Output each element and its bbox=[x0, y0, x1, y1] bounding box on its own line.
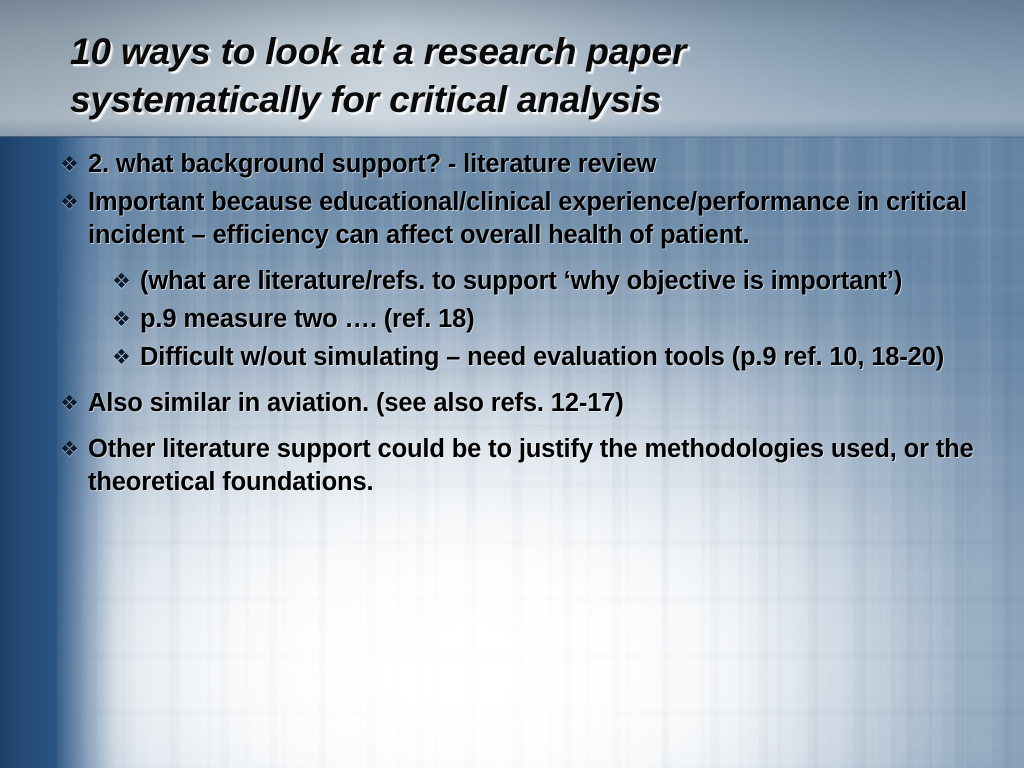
bullet-text: Important because educational/clinical e… bbox=[88, 186, 1010, 252]
slide-title: 10 ways to look at a research paper syst… bbox=[70, 28, 970, 124]
sub-bullet-item: ❖ Difficult w/out simulating – need eval… bbox=[60, 341, 1010, 374]
body-spacer bbox=[60, 257, 1010, 265]
bullet-item: ❖ 2. what background support? - literatu… bbox=[60, 148, 1010, 181]
sub-bullet-item: ❖ (what are literature/refs. to support … bbox=[60, 265, 1010, 298]
bullet-diamond-icon: ❖ bbox=[112, 303, 140, 336]
slide-title-line-2: systematically for critical analysis bbox=[70, 76, 970, 124]
bullet-diamond-icon: ❖ bbox=[60, 148, 88, 181]
bullet-text: Other literature support could be to jus… bbox=[88, 433, 1010, 499]
left-accent-band bbox=[0, 137, 57, 768]
sub-bullet-text: (what are literature/refs. to support ‘w… bbox=[140, 265, 1010, 298]
bullet-diamond-icon: ❖ bbox=[60, 433, 88, 466]
bullet-item: ❖ Important because educational/clinical… bbox=[60, 186, 1010, 252]
bullet-diamond-icon: ❖ bbox=[60, 387, 88, 420]
slide-title-line-1: 10 ways to look at a research paper bbox=[70, 28, 970, 76]
sub-bullet-item: ❖ p.9 measure two …. (ref. 18) bbox=[60, 303, 1010, 336]
presentation-slide: 10 ways to look at a research paper syst… bbox=[0, 0, 1024, 768]
bullet-text: Also similar in aviation. (see also refs… bbox=[88, 387, 1010, 420]
bullet-diamond-icon: ❖ bbox=[112, 341, 140, 374]
header-band-divider bbox=[0, 136, 1024, 138]
sub-bullet-text: Difficult w/out simulating – need evalua… bbox=[140, 341, 1010, 374]
bullet-diamond-icon: ❖ bbox=[60, 186, 88, 219]
bullet-item: ❖ Also similar in aviation. (see also re… bbox=[60, 387, 1010, 420]
body-spacer bbox=[60, 379, 1010, 387]
body-spacer bbox=[60, 425, 1010, 433]
bullet-item: ❖ Other literature support could be to j… bbox=[60, 433, 1010, 499]
slide-body: ❖ 2. what background support? - literatu… bbox=[60, 148, 1010, 504]
sub-bullet-text: p.9 measure two …. (ref. 18) bbox=[140, 303, 1010, 336]
bullet-text: 2. what background support? - literature… bbox=[88, 148, 1010, 181]
bullet-diamond-icon: ❖ bbox=[112, 265, 140, 298]
